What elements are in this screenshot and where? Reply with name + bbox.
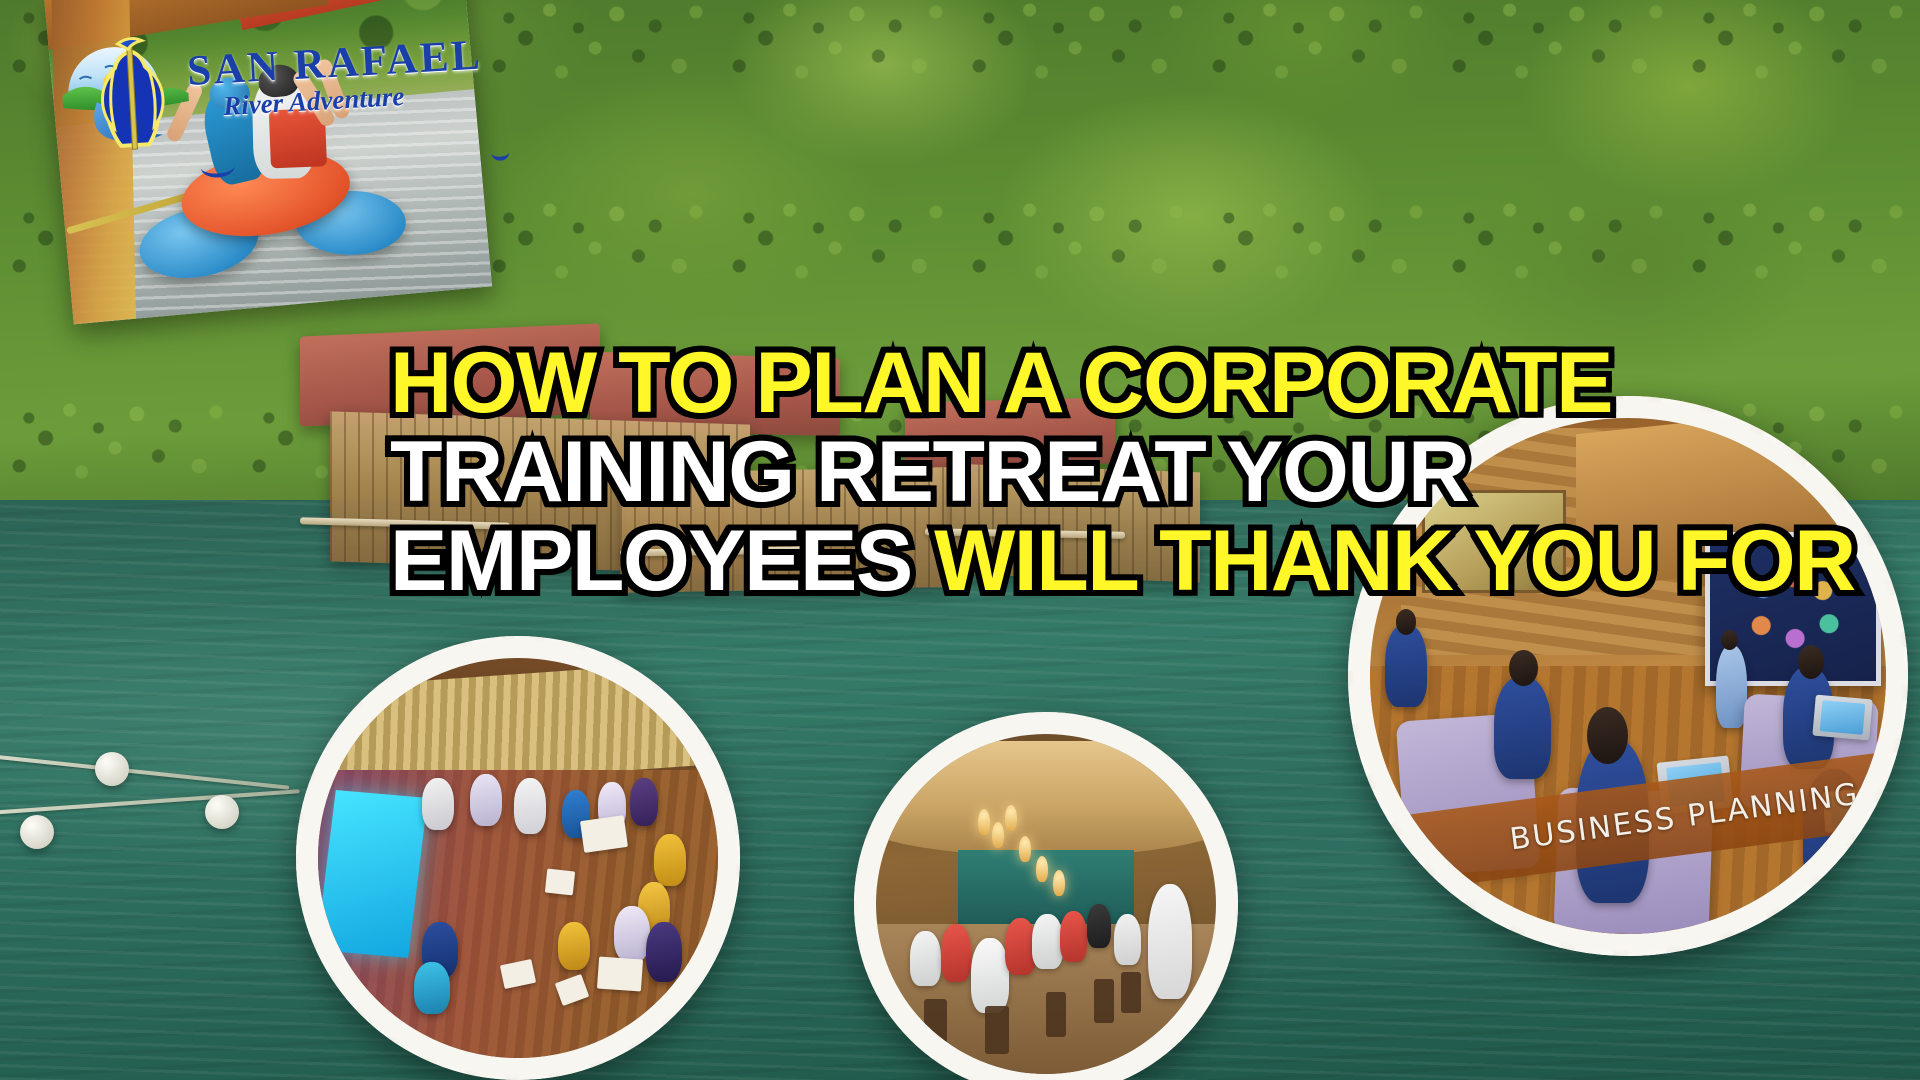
san-rafael-logo[interactable]: SAN RAFAEL River Adventure	[57, 7, 464, 159]
headline-line-1: HOW TO PLAN A CORPORATE	[390, 340, 1890, 427]
page-title: HOW TO PLAN A CORPORATE TRAINING RETREAT…	[390, 340, 1890, 607]
paddler-angel-icon	[89, 35, 176, 159]
headline-segment: TRAINING RETREAT YOUR	[390, 424, 1469, 520]
attendee	[1494, 676, 1551, 779]
attendee-head	[1587, 707, 1628, 764]
attendee	[1385, 624, 1426, 707]
blog-header-banner: SAN RAFAEL River Adventure	[0, 0, 1920, 1080]
attendee-head	[1396, 609, 1417, 635]
buoy-float	[95, 752, 129, 786]
headline-line-3: EMPLOYEES WILL THANK YOU FOR	[390, 518, 1890, 605]
buoy-float	[20, 815, 54, 849]
logo-wordmark: SAN RAFAEL River Adventure	[186, 34, 485, 124]
headline-segment: WILL THANK YOU FOR	[934, 513, 1855, 609]
wooden-ceiling	[876, 741, 1216, 857]
headline-segment: EMPLOYEES	[390, 513, 934, 609]
laptop	[1812, 694, 1872, 740]
photo-workshop	[296, 636, 740, 1080]
buoy-float	[205, 795, 239, 829]
photo-dining	[854, 712, 1238, 1080]
attendee-head	[1509, 650, 1537, 686]
headline-line-2: TRAINING RETREAT YOUR	[390, 429, 1890, 516]
attendee-head	[1798, 645, 1824, 679]
headline-segment: HOW TO PLAN A CORPORATE	[390, 335, 1612, 431]
presenter	[1716, 645, 1747, 728]
